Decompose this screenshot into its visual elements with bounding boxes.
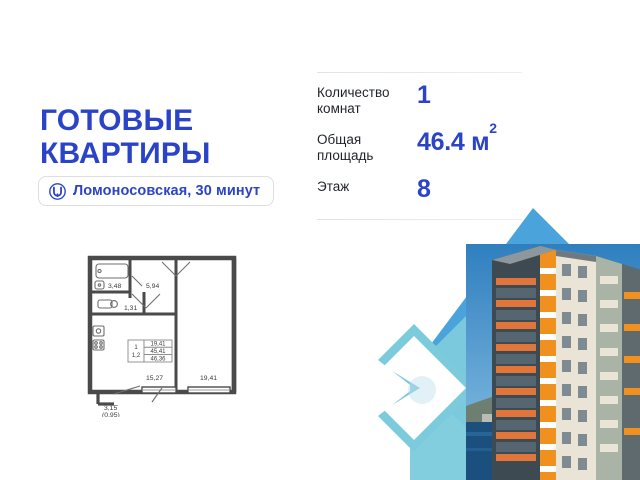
spec-value-total-area: 46.4 м2 bbox=[417, 129, 497, 156]
plan-label-wc: 1,31 bbox=[124, 305, 137, 312]
spec-value-rooms: 1 bbox=[417, 82, 431, 109]
plan-table-level: 1,2 bbox=[132, 353, 141, 359]
watermark-icon bbox=[408, 376, 436, 404]
plan-label-bathroom: 3,48 bbox=[108, 283, 121, 290]
plan-label-balcony: 3,15 bbox=[104, 405, 117, 412]
building-photo bbox=[466, 244, 640, 480]
plan-spec-table: 1 1,2 19,41 45,41 46,36 bbox=[128, 340, 172, 362]
page-title: ГОТОВЫЕ КВАРТИРЫ bbox=[40, 104, 211, 170]
plan-table-area-total: 46,36 bbox=[150, 356, 166, 362]
floor-plan[interactable]: 1 1,2 19,41 45,41 46,36 3,48 5,94 1,31 1… bbox=[84, 252, 274, 417]
plan-table-living-area: 19,41 bbox=[150, 342, 166, 348]
spec-value-total-area-number: 46.4 м bbox=[417, 128, 489, 156]
spb-metro-logo-icon bbox=[49, 183, 66, 200]
apartment-specs: Количество комнат 1 Общая площадь 46.4 м… bbox=[317, 72, 522, 220]
metro-station-label: Ломоносовская, 30 минут bbox=[73, 183, 260, 199]
spec-label-rooms: Количество комнат bbox=[317, 82, 417, 117]
metro-station-badge[interactable]: Ломоносовская, 30 минут bbox=[38, 176, 274, 206]
spec-value-floor: 8 bbox=[417, 176, 431, 203]
plan-label-balcony-reduced: (0,95) bbox=[102, 412, 120, 417]
spec-label-floor: Этаж bbox=[317, 176, 417, 195]
spec-label-total-area: Общая площадь bbox=[317, 129, 417, 164]
building-decor-graphic bbox=[370, 200, 640, 480]
plan-label-room: 19,41 bbox=[200, 375, 217, 382]
plan-label-kitchen-living: 15,27 bbox=[146, 375, 163, 382]
spec-row-rooms: Количество комнат 1 bbox=[317, 82, 522, 117]
spec-row-total-area: Общая площадь 46.4 м2 bbox=[317, 129, 522, 164]
spec-value-total-area-unit-exponent: 2 bbox=[489, 120, 497, 136]
plan-table-area-net: 45,41 bbox=[150, 349, 166, 355]
listing-card: ГОТОВЫЕ КВАРТИРЫ Ломоносовская, 30 минут… bbox=[0, 0, 640, 480]
plan-label-hall: 5,94 bbox=[146, 283, 159, 290]
